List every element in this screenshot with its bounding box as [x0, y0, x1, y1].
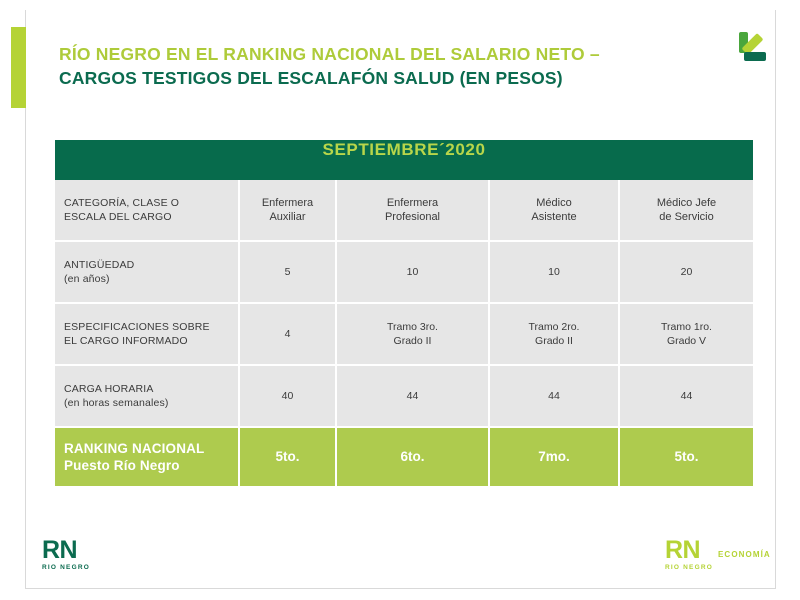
table-row: ANTIGÜEDAD (en años) 5 10 10 20 — [55, 242, 753, 304]
cell-line-1: Enfermera — [385, 196, 440, 210]
table-cell: 44 — [490, 366, 620, 428]
ranking-cell: 5to. — [620, 428, 753, 486]
table-cell: 5 — [240, 242, 337, 304]
cell-line-1: Tramo 2ro. — [529, 320, 580, 334]
table-row-ranking: RANKING NACIONAL Puesto Río Negro 5to. 6… — [55, 428, 753, 486]
row-label: CARGA HORARIA (en horas semanales) — [55, 366, 240, 428]
salary-ranking-table: SEPTIEMBRE´2020 CATEGORÍA, CLASE O ESCAL… — [55, 140, 753, 486]
rio-negro-logo-subtitle: RIO NEGRO — [42, 563, 162, 573]
cell-line-1: Médico Jefe — [657, 196, 716, 210]
table-cell: 40 — [240, 366, 337, 428]
table-cell: 10 — [490, 242, 620, 304]
page-title-line-1: RÍO NEGRO EN EL RANKING NACIONAL DEL SAL… — [59, 42, 719, 66]
ranking-cell: 7mo. — [490, 428, 620, 486]
row-label: ANTIGÜEDAD (en años) — [55, 242, 240, 304]
row-label: RANKING NACIONAL Puesto Río Negro — [55, 428, 240, 486]
cell-line-1: Tramo 1ro. — [661, 320, 712, 334]
ranking-cell: 5to. — [240, 428, 337, 486]
row-label-line-1: CATEGORÍA, CLASE O — [64, 196, 179, 210]
row-label-line-1: ANTIGÜEDAD — [64, 258, 134, 272]
table-cell: 20 — [620, 242, 753, 304]
table-row: CATEGORÍA, CLASE O ESCALA DEL CARGO Enfe… — [55, 180, 753, 242]
row-label-line-2: ESCALA DEL CARGO — [64, 210, 179, 224]
table-period-header: SEPTIEMBRE´2020 — [55, 140, 753, 180]
table-cell: Tramo 3ro. Grado II — [337, 304, 490, 366]
cell-line-2: Grado II — [529, 334, 580, 348]
row-label-line-1: RANKING NACIONAL — [64, 440, 204, 457]
cell-line-2: Auxiliar — [262, 210, 313, 224]
table-row: CARGA HORARIA (en horas semanales) 40 44… — [55, 366, 753, 428]
row-label-line-2: (en años) — [64, 272, 134, 286]
row-label-line-2: (en horas semanales) — [64, 396, 169, 410]
accent-bar — [11, 27, 26, 108]
slide-frame-bottom — [25, 588, 776, 589]
table-cell: 44 — [620, 366, 753, 428]
row-label: ESPECIFICACIONES SOBRE EL CARGO INFORMAD… — [55, 304, 240, 366]
row-label: CATEGORÍA, CLASE O ESCALA DEL CARGO — [55, 180, 240, 242]
slide-frame-right — [775, 10, 776, 588]
rio-negro-logo-subtitle: RIO NEGRO — [665, 563, 785, 573]
row-label-line-2: Puesto Río Negro — [64, 457, 204, 474]
cell-line-1: Enfermera — [262, 196, 313, 210]
cell-line-1: Médico — [531, 196, 576, 210]
table-row: ESPECIFICACIONES SOBRE EL CARGO INFORMAD… — [55, 304, 753, 366]
rio-negro-logo-mark: RN — [42, 538, 162, 563]
page-title-line-2: CARGOS TESTIGOS DEL ESCALAFÓN SALUD (EN … — [59, 66, 719, 90]
cell-line-2: Profesional — [385, 210, 440, 224]
table-cell: 44 — [337, 366, 490, 428]
row-label-line-1: CARGA HORARIA — [64, 382, 169, 396]
slide-canvas: RÍO NEGRO EN EL RANKING NACIONAL DEL SAL… — [0, 0, 800, 600]
rio-negro-logo: RN RIO NEGRO — [42, 538, 162, 573]
page-title: RÍO NEGRO EN EL RANKING NACIONAL DEL SAL… — [59, 42, 719, 90]
ranking-cell: 6to. — [337, 428, 490, 486]
table-cell: Enfermera Auxiliar — [240, 180, 337, 242]
economia-label: ECONOMÍA — [718, 550, 771, 559]
cell-line-2: Grado II — [387, 334, 438, 348]
table-cell: Médico Jefe de Servicio — [620, 180, 753, 242]
row-label-line-2: EL CARGO INFORMADO — [64, 334, 210, 348]
cell-line-2: de Servicio — [657, 210, 716, 224]
table-cell: Tramo 2ro. Grado II — [490, 304, 620, 366]
table-cell: 4 — [240, 304, 337, 366]
table-cell: 10 — [337, 242, 490, 304]
cell-line-2: Asistente — [531, 210, 576, 224]
table-cell: Médico Asistente — [490, 180, 620, 242]
row-label-line-1: ESPECIFICACIONES SOBRE — [64, 320, 210, 334]
table-cell: Enfermera Profesional — [337, 180, 490, 242]
k-logo-icon — [735, 28, 775, 68]
cell-line-2: Grado V — [661, 334, 712, 348]
table-cell: Tramo 1ro. Grado V — [620, 304, 753, 366]
cell-line-1: Tramo 3ro. — [387, 320, 438, 334]
